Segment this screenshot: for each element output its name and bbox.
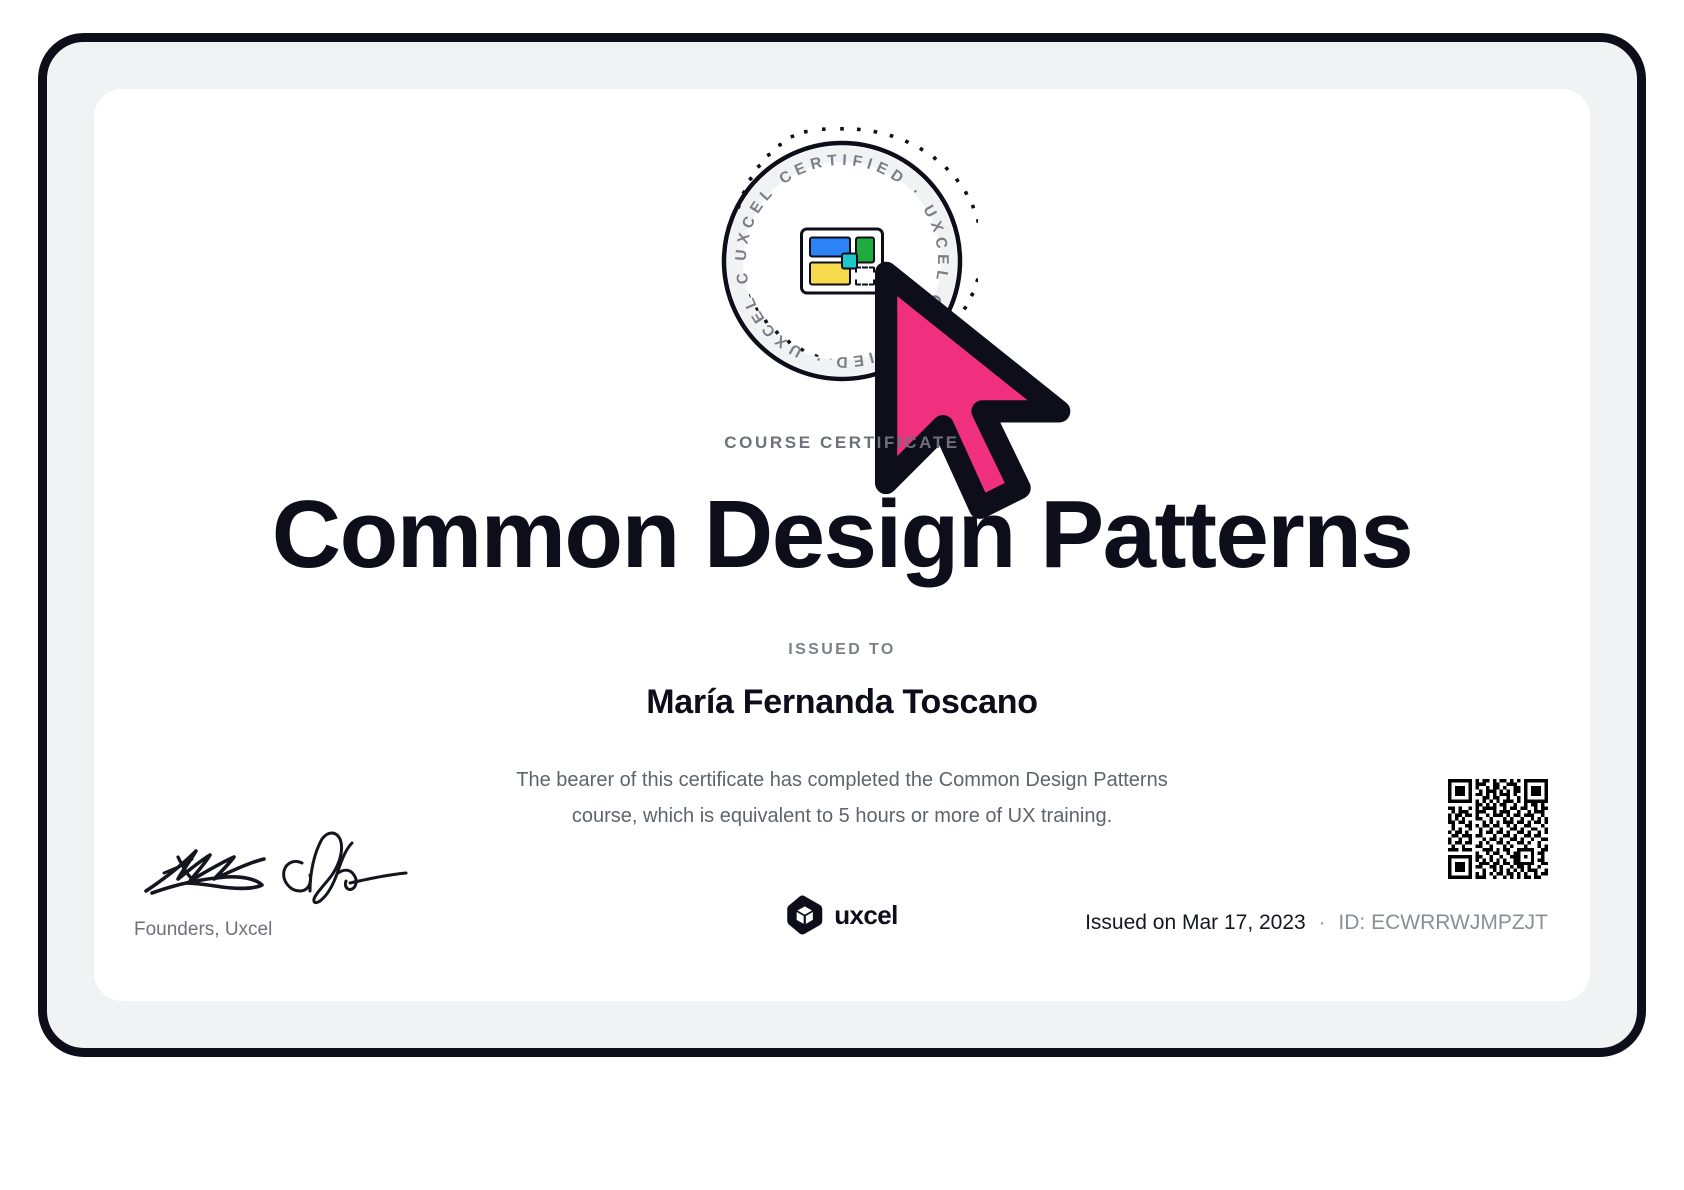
founders-signature-art [134, 829, 424, 907]
uxcel-wordmark: uxcel [834, 900, 898, 931]
recipient-name: María Fernanda Toscano [94, 683, 1590, 722]
issue-date: Issued on Mar 17, 2023 [1085, 911, 1306, 934]
uxcel-hexagon-logo-icon [786, 895, 823, 935]
verification-qr-code[interactable] [1448, 779, 1548, 879]
page-title: Common Design Patterns [94, 485, 1590, 586]
issued-to-label: ISSUED TO [94, 641, 1590, 659]
certification-seal: UXCEL CERTIFIED · UXCEL CERTIFIED · UXCE… [706, 125, 978, 397]
signature-label: Founders, Uxcel [134, 919, 464, 941]
certificate-id: ID: ECWRRWJMPZJT [1338, 911, 1548, 934]
certificate-frame: UXCEL CERTIFIED · UXCEL CERTIFIED · UXCE… [38, 33, 1646, 1057]
meta-separator: · [1319, 911, 1326, 934]
design-patterns-icon [800, 228, 884, 295]
description-line-2: course, which is equivalent to 5 hours o… [572, 805, 1112, 827]
uxcel-brand: uxcel [786, 895, 898, 935]
issue-metadata: Issued on Mar 17, 2023 · ID: ECWRRWJMPZJ… [1085, 911, 1548, 935]
certificate-description: The bearer of this certificate has compl… [462, 763, 1222, 834]
certificate-kicker: COURSE CERTIFICATE [94, 433, 1590, 453]
signature-block: Founders, Uxcel [134, 829, 464, 941]
description-line-1: The bearer of this certificate has compl… [516, 769, 1167, 791]
certificate-card: UXCEL CERTIFIED · UXCEL CERTIFIED · UXCE… [94, 89, 1590, 1001]
